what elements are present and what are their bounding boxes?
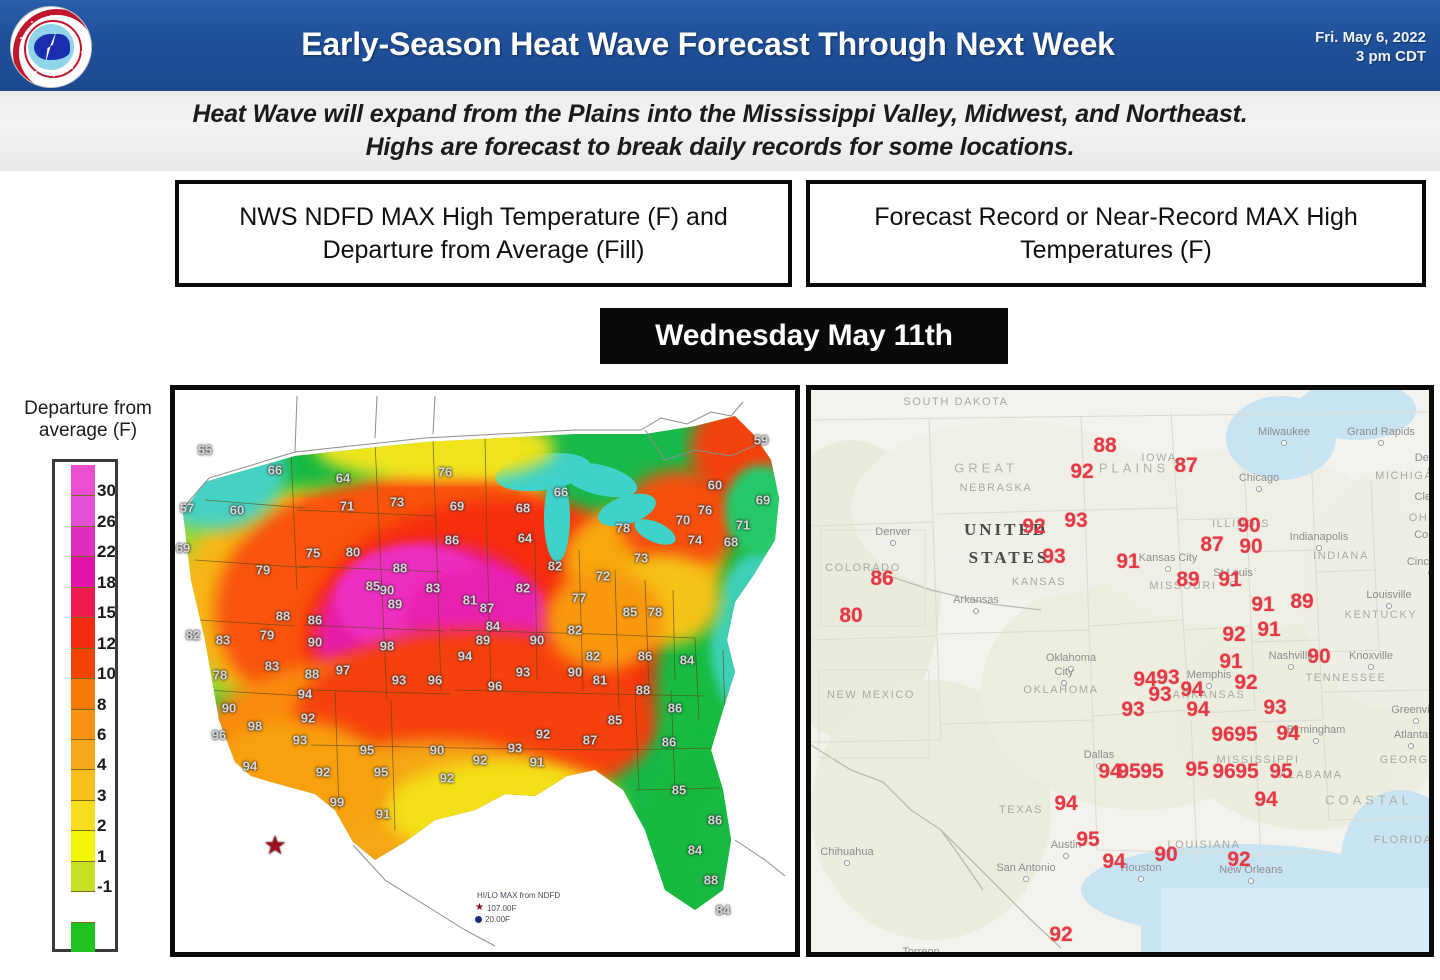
right-panel-title: Forecast Record or Near-Record MAX High …: [806, 180, 1426, 287]
colorbar-label: 6: [97, 725, 106, 745]
max-high-star-marker: ★: [263, 832, 286, 858]
issuance-date: Fri. May 6, 2022: [1241, 28, 1426, 47]
colorbar-segment: [71, 709, 95, 739]
hilo-low-value: 20.00F: [485, 914, 510, 926]
subtitle-line-2: Highs are forecast to break daily record…: [0, 132, 1440, 164]
colorbar-segment: [71, 891, 95, 921]
city-dot-icon: [1368, 664, 1374, 670]
terrain-basemap: [811, 390, 1429, 952]
city-dot-icon: [1023, 876, 1029, 882]
subtitle-line-1: Heat Wave will expand from the Plains in…: [0, 99, 1440, 131]
colorbar-segment: [71, 922, 95, 952]
city-dot-icon: [973, 608, 979, 614]
departure-from-average-fill: [175, 390, 795, 952]
city-dot-icon: [1206, 683, 1212, 689]
colorbar-label: 8: [97, 695, 106, 715]
record-high-temperature-map[interactable]: SOUTH DAKOTAGREATPLAINSNEBRASKAIOWAUNITE…: [806, 385, 1434, 957]
colorbar-segment: [71, 861, 95, 891]
hilo-max-legend: HI/LO MAX from NDFD ★ 107.00F 20.00F: [475, 890, 625, 926]
hilo-high-value: 107.00F: [487, 903, 516, 915]
circle-icon: [475, 916, 482, 923]
city-dot-icon: [1288, 664, 1294, 670]
issuance-timestamp: Fri. May 6, 2022 3 pm CDT: [1241, 28, 1426, 66]
city-dot-icon: [1138, 876, 1144, 882]
city-dot-icon: [1063, 853, 1069, 859]
colorbar-title: Departure from average (F): [8, 398, 168, 443]
city-dot-icon: [1281, 440, 1287, 446]
city-dot-icon: [1408, 743, 1414, 749]
colorbar-label: 15: [97, 603, 116, 623]
subtitle-band: Heat Wave will expand from the Plains in…: [0, 91, 1440, 171]
city-dot-icon: [844, 860, 850, 866]
star-icon: ★: [475, 903, 484, 913]
colorbar-tick-labels: 30262218151210864321-1: [97, 462, 121, 955]
city-dot-icon: [1386, 603, 1392, 609]
colorbar-segment: [71, 830, 95, 860]
colorbar-segment: [71, 739, 95, 769]
colorbar-segment: [71, 617, 95, 647]
colorbar-label: 2: [97, 816, 106, 836]
forecast-graphic: Early-Season Heat Wave Forecast Through …: [0, 0, 1440, 980]
city-dot-icon: [1096, 763, 1102, 769]
colorbar-label: 1: [97, 847, 106, 867]
colorbar-segment: [71, 465, 95, 495]
city-dot-icon: [1313, 738, 1319, 744]
colorbar-segment: [71, 800, 95, 830]
colorbar-label: 4: [97, 755, 106, 775]
city-dot-icon: [1413, 718, 1419, 724]
colorbar-segment: [71, 587, 95, 617]
colorbar-label: 22: [97, 542, 116, 562]
city-dot-icon: [1230, 581, 1236, 587]
city-dot-icon: [1316, 545, 1322, 551]
colorbar-label: 12: [97, 634, 116, 654]
city-dot-icon: [1165, 566, 1171, 572]
ndfd-max-high-temperature-map[interactable]: 5557606966647173766968665960646975808886…: [170, 385, 800, 957]
city-dot-icon: [1068, 666, 1074, 672]
issuance-time: 3 pm CDT: [1241, 47, 1426, 66]
nws-logo: [8, 6, 94, 86]
hilo-legend-low-row: 20.00F: [475, 914, 625, 926]
seal-ring-dots: [11, 7, 91, 87]
colorbar-label: 10: [97, 664, 116, 684]
colorbar-label: 26: [97, 512, 116, 532]
departure-colorbar: 30262218151210864321-1: [52, 459, 118, 952]
left-panel-title: NWS NDFD MAX High Temperature (F) and De…: [175, 180, 792, 287]
city-dot-icon: [1428, 570, 1434, 576]
colorbar-segment: [71, 495, 95, 525]
page-title: Early-Season Heat Wave Forecast Through …: [188, 26, 1228, 63]
colorbar-label: 30: [97, 481, 116, 501]
page-header: Early-Season Heat Wave Forecast Through …: [0, 0, 1440, 91]
colorbar-segment: [71, 769, 95, 799]
hilo-legend-high-row: ★ 107.00F: [475, 903, 625, 915]
city-dot-icon: [1248, 878, 1254, 884]
colorbar-label: 3: [97, 786, 106, 806]
city-dot-icon: [1061, 680, 1067, 686]
colorbar-segment: [71, 556, 95, 586]
city-dot-icon: [890, 540, 896, 546]
colorbar-title-line-2: average (F): [8, 420, 168, 442]
colorbar-segment: [71, 648, 95, 678]
colorbar-segment: [71, 526, 95, 556]
colorbar-segment: [71, 678, 95, 708]
day-banner: Wednesday May 11th: [600, 308, 1008, 364]
colorbar-title-line-1: Departure from: [8, 398, 168, 420]
hilo-legend-title: HI/LO MAX from NDFD: [477, 890, 625, 902]
colorbar-label: -1: [97, 877, 112, 897]
colorbar-label: 18: [97, 573, 116, 593]
city-dot-icon: [1428, 466, 1434, 472]
city-dot-icon: [1378, 440, 1384, 446]
colorbar-gradient: [71, 465, 95, 952]
city-dot-icon: [1256, 486, 1262, 492]
